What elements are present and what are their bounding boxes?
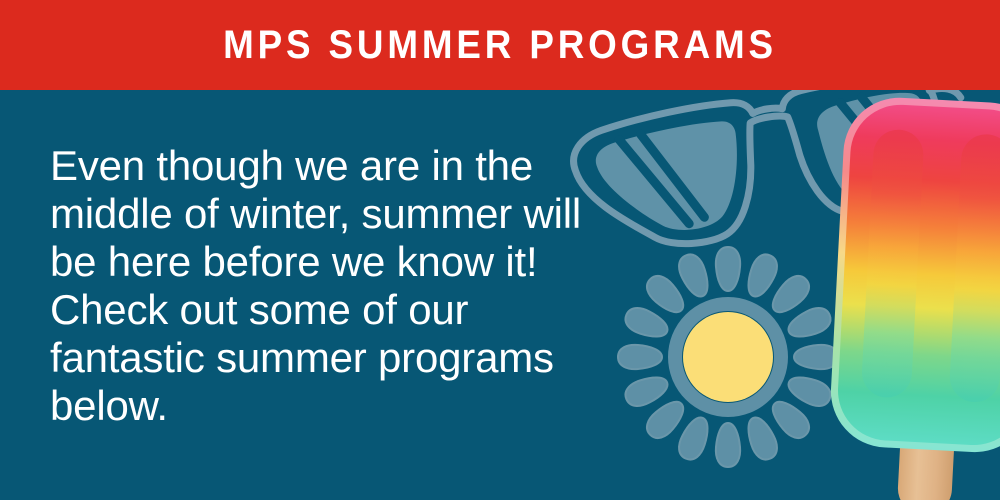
sun-icon — [618, 247, 838, 467]
page-title: MPS SUMMER PROGRAMS — [223, 25, 777, 65]
summer-programs-graphic: MPS SUMMER PROGRAMS — [0, 0, 1000, 500]
sunglasses-icon — [568, 90, 978, 268]
popsicle-icon — [825, 95, 1000, 500]
body-paragraph: Even though we are in the middle of wint… — [50, 142, 610, 430]
body-panel: Even though we are in the middle of wint… — [0, 90, 1000, 500]
header-banner: MPS SUMMER PROGRAMS — [0, 0, 1000, 90]
